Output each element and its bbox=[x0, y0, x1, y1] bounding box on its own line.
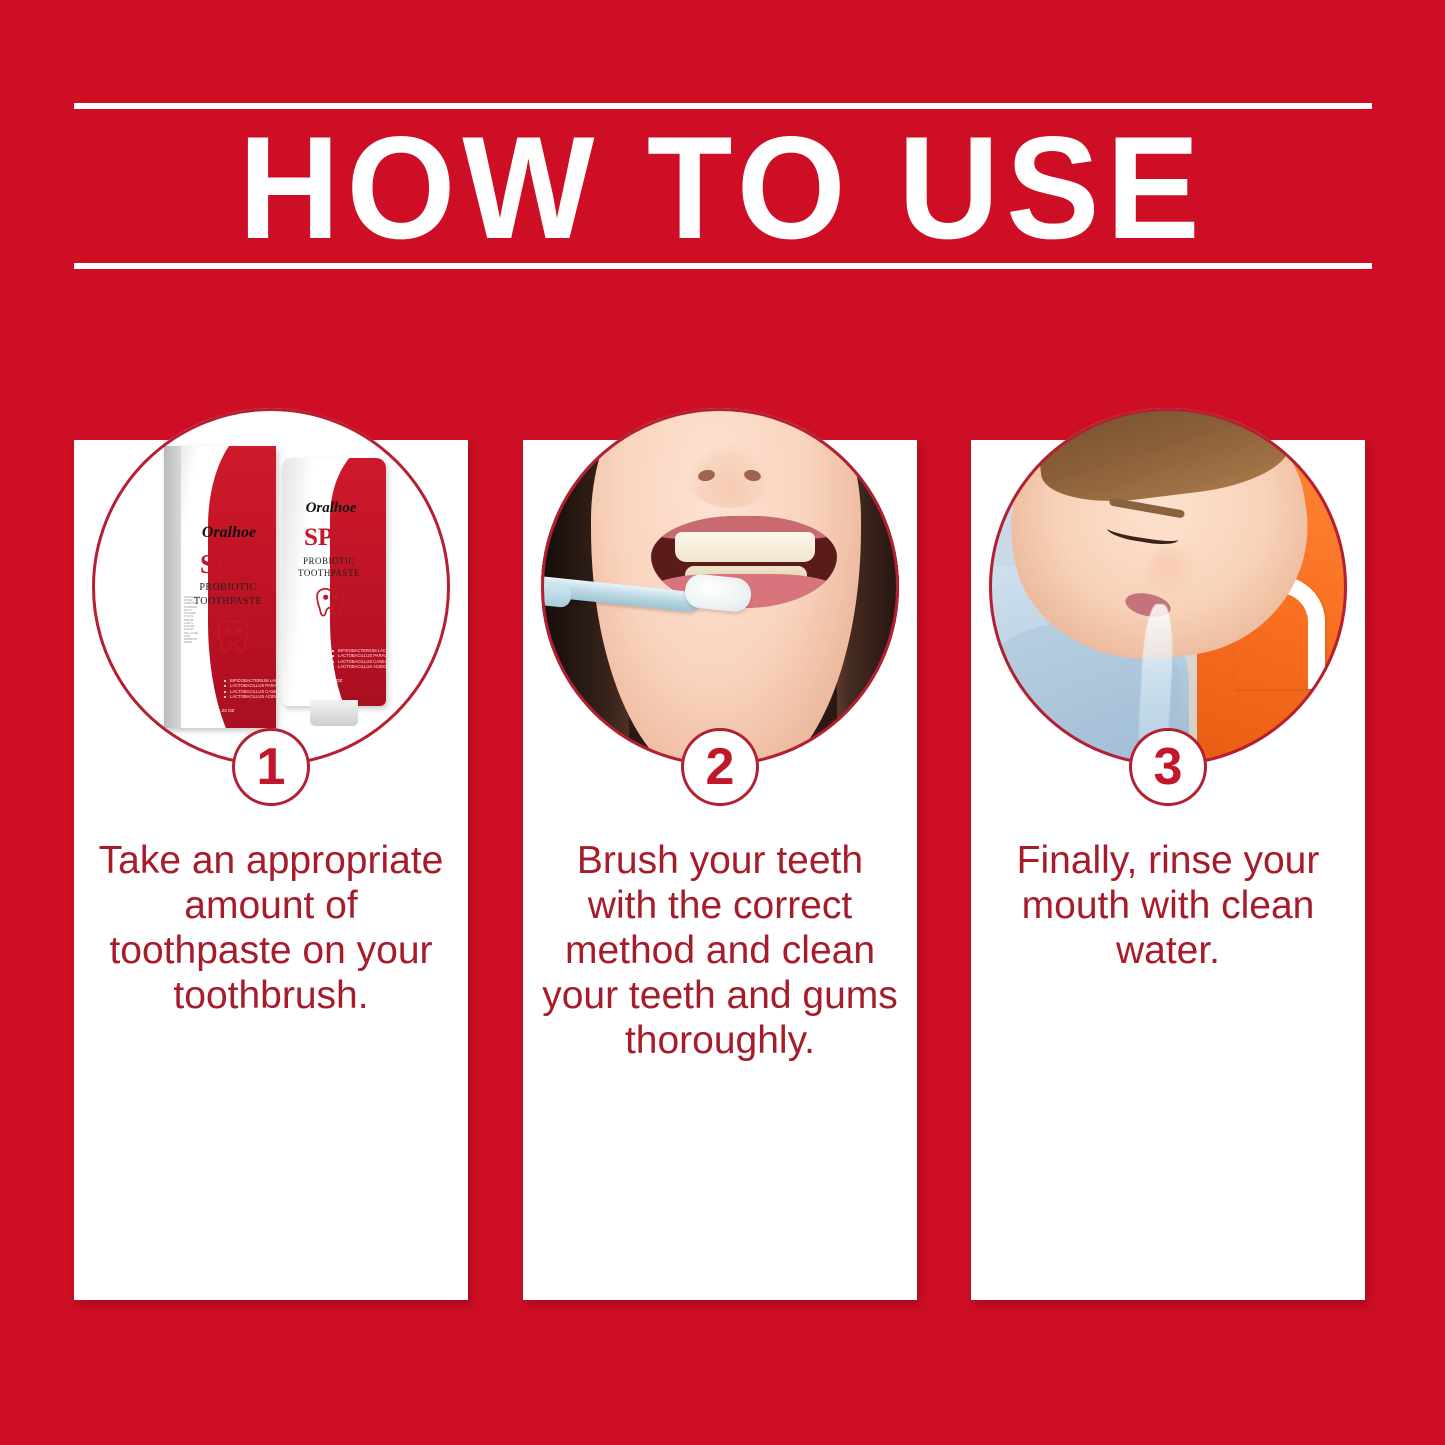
box-ingredient-list: BIFIDOBACTERIUM LACTIS LACTOBACILLUS PAR… bbox=[190, 678, 276, 699]
box-descriptor-line1: PROBIOTIC bbox=[182, 582, 274, 593]
steps-container: INGREDIENTS WATER SORBITOL HYDRATED SILI… bbox=[0, 408, 1445, 1308]
step-card-3: 3 Finally, rinse your mouth with clean w… bbox=[971, 408, 1365, 1308]
page-header: HOW TO USE bbox=[0, 0, 1445, 300]
step-image-3 bbox=[989, 408, 1347, 766]
tube-descriptor-line2: TOOTHPASTE bbox=[286, 568, 372, 578]
nose bbox=[1147, 544, 1199, 598]
tube-descriptor-line1: PROBIOTIC bbox=[286, 556, 372, 566]
tooth-mascot-icon bbox=[308, 586, 352, 624]
tube-ingredient-list: BIFIDOBACTERIUM LACTIS LACTOBACILLUS PAR… bbox=[298, 648, 386, 669]
box-brand-label: Oralhoe bbox=[184, 524, 274, 542]
rinsing-mouth-photo bbox=[989, 408, 1347, 766]
step-number-badge-2: 2 bbox=[681, 728, 759, 806]
step-caption-2: Brush your teeth with the correct method… bbox=[537, 838, 903, 1063]
tube-net-weight: NET: 120G/4.23 OZ bbox=[302, 678, 342, 683]
tube-ingredient-item: LACTOBACILLUS ACIDOPHILUS bbox=[338, 664, 386, 669]
product-tube: Oralhoe SP-8 PROBIOTIC TOOTHPASTE BIFIDO… bbox=[282, 458, 386, 706]
title-rule-bottom bbox=[74, 263, 1372, 269]
box-descriptor-line2: TOOTHPASTE bbox=[182, 596, 274, 607]
tube-product-name: SP-8 bbox=[288, 524, 370, 552]
step-caption-1: Take an appropriate amount of toothpaste… bbox=[88, 838, 454, 1018]
box-net-weight: NET: 120G/4.23 OZ bbox=[194, 708, 234, 713]
step-card-2: 2 Brush your teeth with the correct meth… bbox=[523, 408, 917, 1308]
tooth-mascot-icon bbox=[208, 618, 258, 662]
box-ingredient-item: LACTOBACILLUS ACIDOPHILUS bbox=[230, 694, 276, 699]
brushing-teeth-photo bbox=[541, 408, 899, 766]
product-photo: INGREDIENTS WATER SORBITOL HYDRATED SILI… bbox=[92, 408, 450, 766]
box-product-name: SP-8 bbox=[182, 549, 272, 580]
step-number-badge-3: 3 bbox=[1129, 728, 1207, 806]
box-side-panel bbox=[164, 446, 181, 728]
upper-teeth bbox=[675, 532, 815, 562]
tube-cap bbox=[310, 700, 358, 726]
page-title: HOW TO USE bbox=[29, 118, 1416, 258]
step-card-1: INGREDIENTS WATER SORBITOL HYDRATED SILI… bbox=[74, 408, 468, 1308]
product-box: INGREDIENTS WATER SORBITOL HYDRATED SILI… bbox=[164, 446, 276, 728]
step-caption-3: Finally, rinse your mouth with clean wat… bbox=[985, 838, 1351, 973]
step-image-2 bbox=[541, 408, 899, 766]
step-image-1: INGREDIENTS WATER SORBITOL HYDRATED SILI… bbox=[92, 408, 450, 766]
step-number-badge-1: 1 bbox=[232, 728, 310, 806]
tube-brand-label: Oralhoe bbox=[290, 500, 372, 517]
